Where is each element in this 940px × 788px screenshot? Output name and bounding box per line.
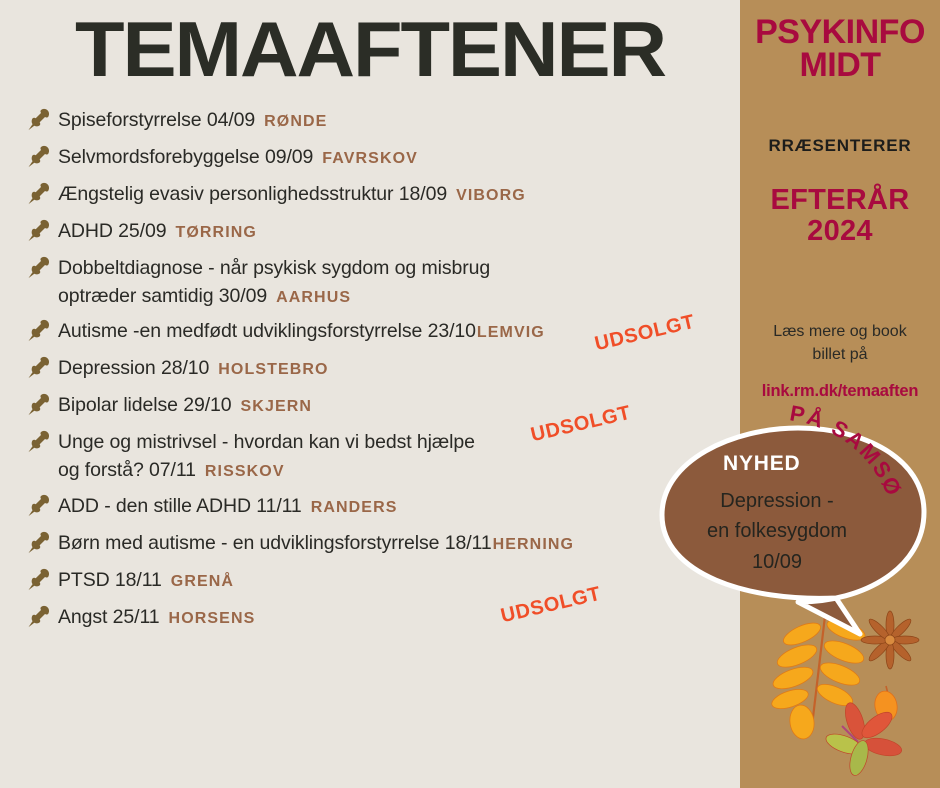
event-city: VIBORG (456, 187, 526, 204)
brand-logo: PSYKINFO MIDT (740, 16, 940, 81)
event-city: TØRRING (175, 224, 256, 241)
event-city: AARHUS (276, 289, 351, 306)
list-item-text: ADHD 25/09TØRRING (58, 217, 740, 246)
event-city: GRENÅ (171, 573, 234, 590)
event-title: Børn med autisme - en udviklingsforstyrr… (58, 532, 492, 554)
event-city: RANDERS (311, 499, 398, 516)
event-title-line2-text: og forstå? 07/11 (58, 459, 196, 481)
season-name: EFTERÅR (770, 184, 909, 216)
booking-link[interactable]: link.rm.dk/temaaften (740, 382, 940, 401)
list-item-text: Unge og mistrivsel - hvordan kan vi beds… (58, 428, 740, 484)
event-title-line2: og forstå? 07/11RISSKOV (58, 457, 740, 485)
list-item[interactable]: ADD - den stille ADHD 11/11RANDERS (26, 492, 740, 522)
event-city: HERNING (493, 536, 574, 553)
pushpin-icon (26, 567, 52, 593)
event-title: Angst 25/11 (58, 606, 160, 628)
pushpin-icon (26, 355, 52, 381)
list-item[interactable]: PTSD 18/11GRENÅ (26, 566, 740, 596)
page-title: TEMAAFTENER (0, 4, 755, 95)
brand-line2: MIDT (740, 49, 940, 82)
event-city: HOLSTEBRO (218, 361, 328, 378)
list-item[interactable]: Dobbeltdiagnose - når psykisk sygdom og … (26, 254, 740, 310)
list-item-text: Børn med autisme - en udviklingsforstyrr… (58, 529, 740, 558)
event-title-line2-text: optræder samtidig 30/09 (58, 285, 267, 307)
pushpin-icon (26, 255, 52, 281)
season-year: 2024 (740, 216, 940, 247)
list-item[interactable]: Spiseforstyrrelse 04/09RØNDE (26, 106, 740, 136)
event-title: PTSD 18/11 (58, 569, 162, 591)
sidebar: PSYKINFO MIDT RRÆSENTERER EFTERÅR 2024 L… (740, 0, 940, 788)
list-item[interactable]: ADHD 25/09TØRRING (26, 217, 740, 247)
event-title: Autisme -en medfødt udviklingsforstyrrel… (58, 320, 476, 342)
list-item-text: Spiseforstyrrelse 04/09RØNDE (58, 106, 740, 135)
event-list: Spiseforstyrrelse 04/09RØNDE Selvmordsfo… (26, 106, 740, 640)
list-item-text: PTSD 18/11GRENÅ (58, 566, 740, 595)
list-item-text: Angst 25/11HORSENS (58, 603, 740, 632)
event-city: LEMVIG (477, 324, 545, 341)
list-item[interactable]: Bipolar lidelse 29/10SKJERN (26, 391, 740, 421)
list-item-text: ADD - den stille ADHD 11/11RANDERS (58, 492, 740, 521)
event-city: SKJERN (241, 398, 313, 415)
event-title: Dobbeltdiagnose - når psykisk sygdom og … (58, 257, 490, 279)
pushpin-icon (26, 107, 52, 133)
poster-canvas: TEMAAFTENER Spiseforstyrrelse 04/09RØNDE (0, 0, 940, 788)
presents-label: RRÆSENTERER (740, 136, 940, 156)
pushpin-icon (26, 218, 52, 244)
list-item-text: Bipolar lidelse 29/10SKJERN (58, 391, 740, 420)
list-item-text: Selvmordsforebyggelse 09/09FAVRSKOV (58, 143, 740, 172)
pa-samso-label: PÅ SAMSØ (780, 414, 940, 524)
list-item[interactable]: Ængstelig evasiv personlighedsstruktur 1… (26, 180, 740, 210)
event-title: Depression 28/10 (58, 357, 209, 379)
list-item[interactable]: Depression 28/10HOLSTEBRO (26, 354, 740, 384)
pushpin-icon (26, 181, 52, 207)
event-title: ADHD 25/09 (58, 220, 166, 242)
pushpin-icon (26, 318, 52, 344)
event-title: Unge og mistrivsel - hvordan kan vi beds… (58, 431, 475, 453)
list-item[interactable]: Børn med autisme - en udviklingsforstyrr… (26, 529, 740, 559)
event-title: ADD - den stille ADHD 11/11 (58, 495, 302, 517)
pushpin-icon (26, 493, 52, 519)
list-item-text: Dobbeltdiagnose - når psykisk sygdom og … (58, 254, 740, 310)
list-item-text: Ængstelig evasiv personlighedsstruktur 1… (58, 180, 740, 209)
news-line3: 10/09 (662, 547, 892, 577)
pushpin-icon (26, 604, 52, 630)
booking-line2: billet på (812, 346, 867, 363)
pushpin-icon (26, 530, 52, 556)
booking-instructions: Læs mere og book billet på (746, 320, 934, 366)
season-label: EFTERÅR 2024 (740, 185, 940, 248)
event-title-line2: optræder samtidig 30/09AARHUS (58, 283, 740, 311)
event-title: Ængstelig evasiv personlighedsstruktur 1… (58, 183, 447, 205)
pushpin-icon (26, 392, 52, 418)
list-item-text: Depression 28/10HOLSTEBRO (58, 354, 740, 383)
event-city: RISSKOV (205, 463, 285, 480)
list-item[interactable]: Selvmordsforebyggelse 09/09FAVRSKOV (26, 143, 740, 173)
list-item[interactable]: Unge og mistrivsel - hvordan kan vi beds… (26, 428, 740, 484)
booking-line1: Læs mere og book (773, 323, 906, 340)
pa-samso-text: PÅ SAMSØ (788, 400, 907, 500)
pushpin-icon (26, 144, 52, 170)
event-city: RØNDE (264, 113, 327, 130)
event-city: HORSENS (169, 610, 256, 627)
pushpin-icon (26, 429, 52, 455)
event-city: FAVRSKOV (322, 150, 418, 167)
event-title: Selvmordsforebyggelse 09/09 (58, 146, 313, 168)
list-item[interactable]: Angst 25/11HORSENS (26, 603, 740, 633)
event-title: Spiseforstyrrelse 04/09 (58, 109, 255, 131)
event-title: Bipolar lidelse 29/10 (58, 394, 232, 416)
